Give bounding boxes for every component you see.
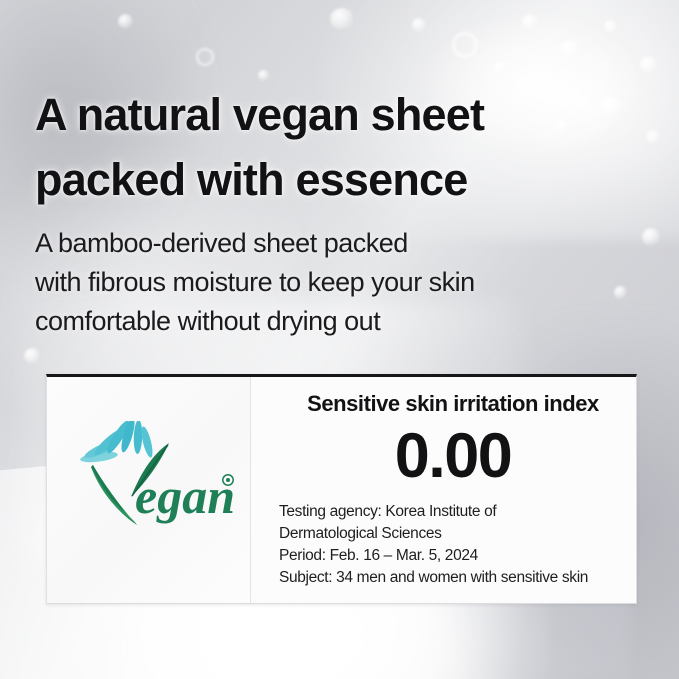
irritation-index-card: egan Sensitive skin irritation index 0.0… (46, 374, 637, 604)
bokeh-droplet (560, 40, 580, 58)
note-period: Period: Feb. 16 – Mar. 5, 2024 (279, 545, 588, 567)
note-testing-agency-cont: Dermatological Sciences (279, 523, 588, 545)
subcopy-line-3: comfortable without drying out (35, 302, 655, 341)
headline-line-2: packed with essence (35, 147, 645, 212)
bokeh-droplet (522, 14, 538, 30)
bokeh-droplet (24, 348, 40, 364)
bokeh-droplet (604, 20, 617, 33)
vegan-petal-fan (80, 421, 155, 464)
vegan-logo: egan (73, 421, 238, 536)
card-info-panel: Sensitive skin irritation index 0.00 Tes… (251, 377, 636, 603)
page-headline: A natural vegan sheet packed with essenc… (35, 82, 645, 213)
bokeh-droplet (118, 14, 133, 29)
bokeh-droplet (362, 652, 373, 663)
bokeh-droplet (452, 32, 478, 58)
irritation-score-value: 0.00 (273, 425, 633, 488)
subcopy-line-1: A bamboo-derived sheet packed (35, 224, 655, 263)
bokeh-droplet (412, 18, 426, 32)
subcopy-line-2: with fibrous moisture to keep your skin (35, 263, 655, 302)
bokeh-droplet (646, 130, 660, 144)
bokeh-droplet (300, 636, 314, 650)
headline-line-1: A natural vegan sheet (35, 82, 645, 147)
bokeh-droplet (258, 70, 269, 81)
bokeh-droplet (240, 660, 249, 669)
vegan-wordmark: egan (135, 468, 235, 524)
bokeh-droplet (196, 48, 214, 66)
card-logo-panel: egan (47, 377, 251, 603)
card-notes: Testing agency: Korea Institute of Derma… (279, 501, 588, 589)
card-title: Sensitive skin irritation index (273, 391, 633, 417)
bokeh-droplet (330, 8, 354, 30)
note-subject: Subject: 34 men and women with sensitive… (279, 567, 588, 589)
bokeh-droplet (640, 56, 657, 73)
bokeh-droplet (494, 62, 506, 74)
page-subcopy: A bamboo-derived sheet packed with fibro… (35, 224, 655, 341)
note-testing-agency: Testing agency: Korea Institute of (279, 501, 588, 523)
